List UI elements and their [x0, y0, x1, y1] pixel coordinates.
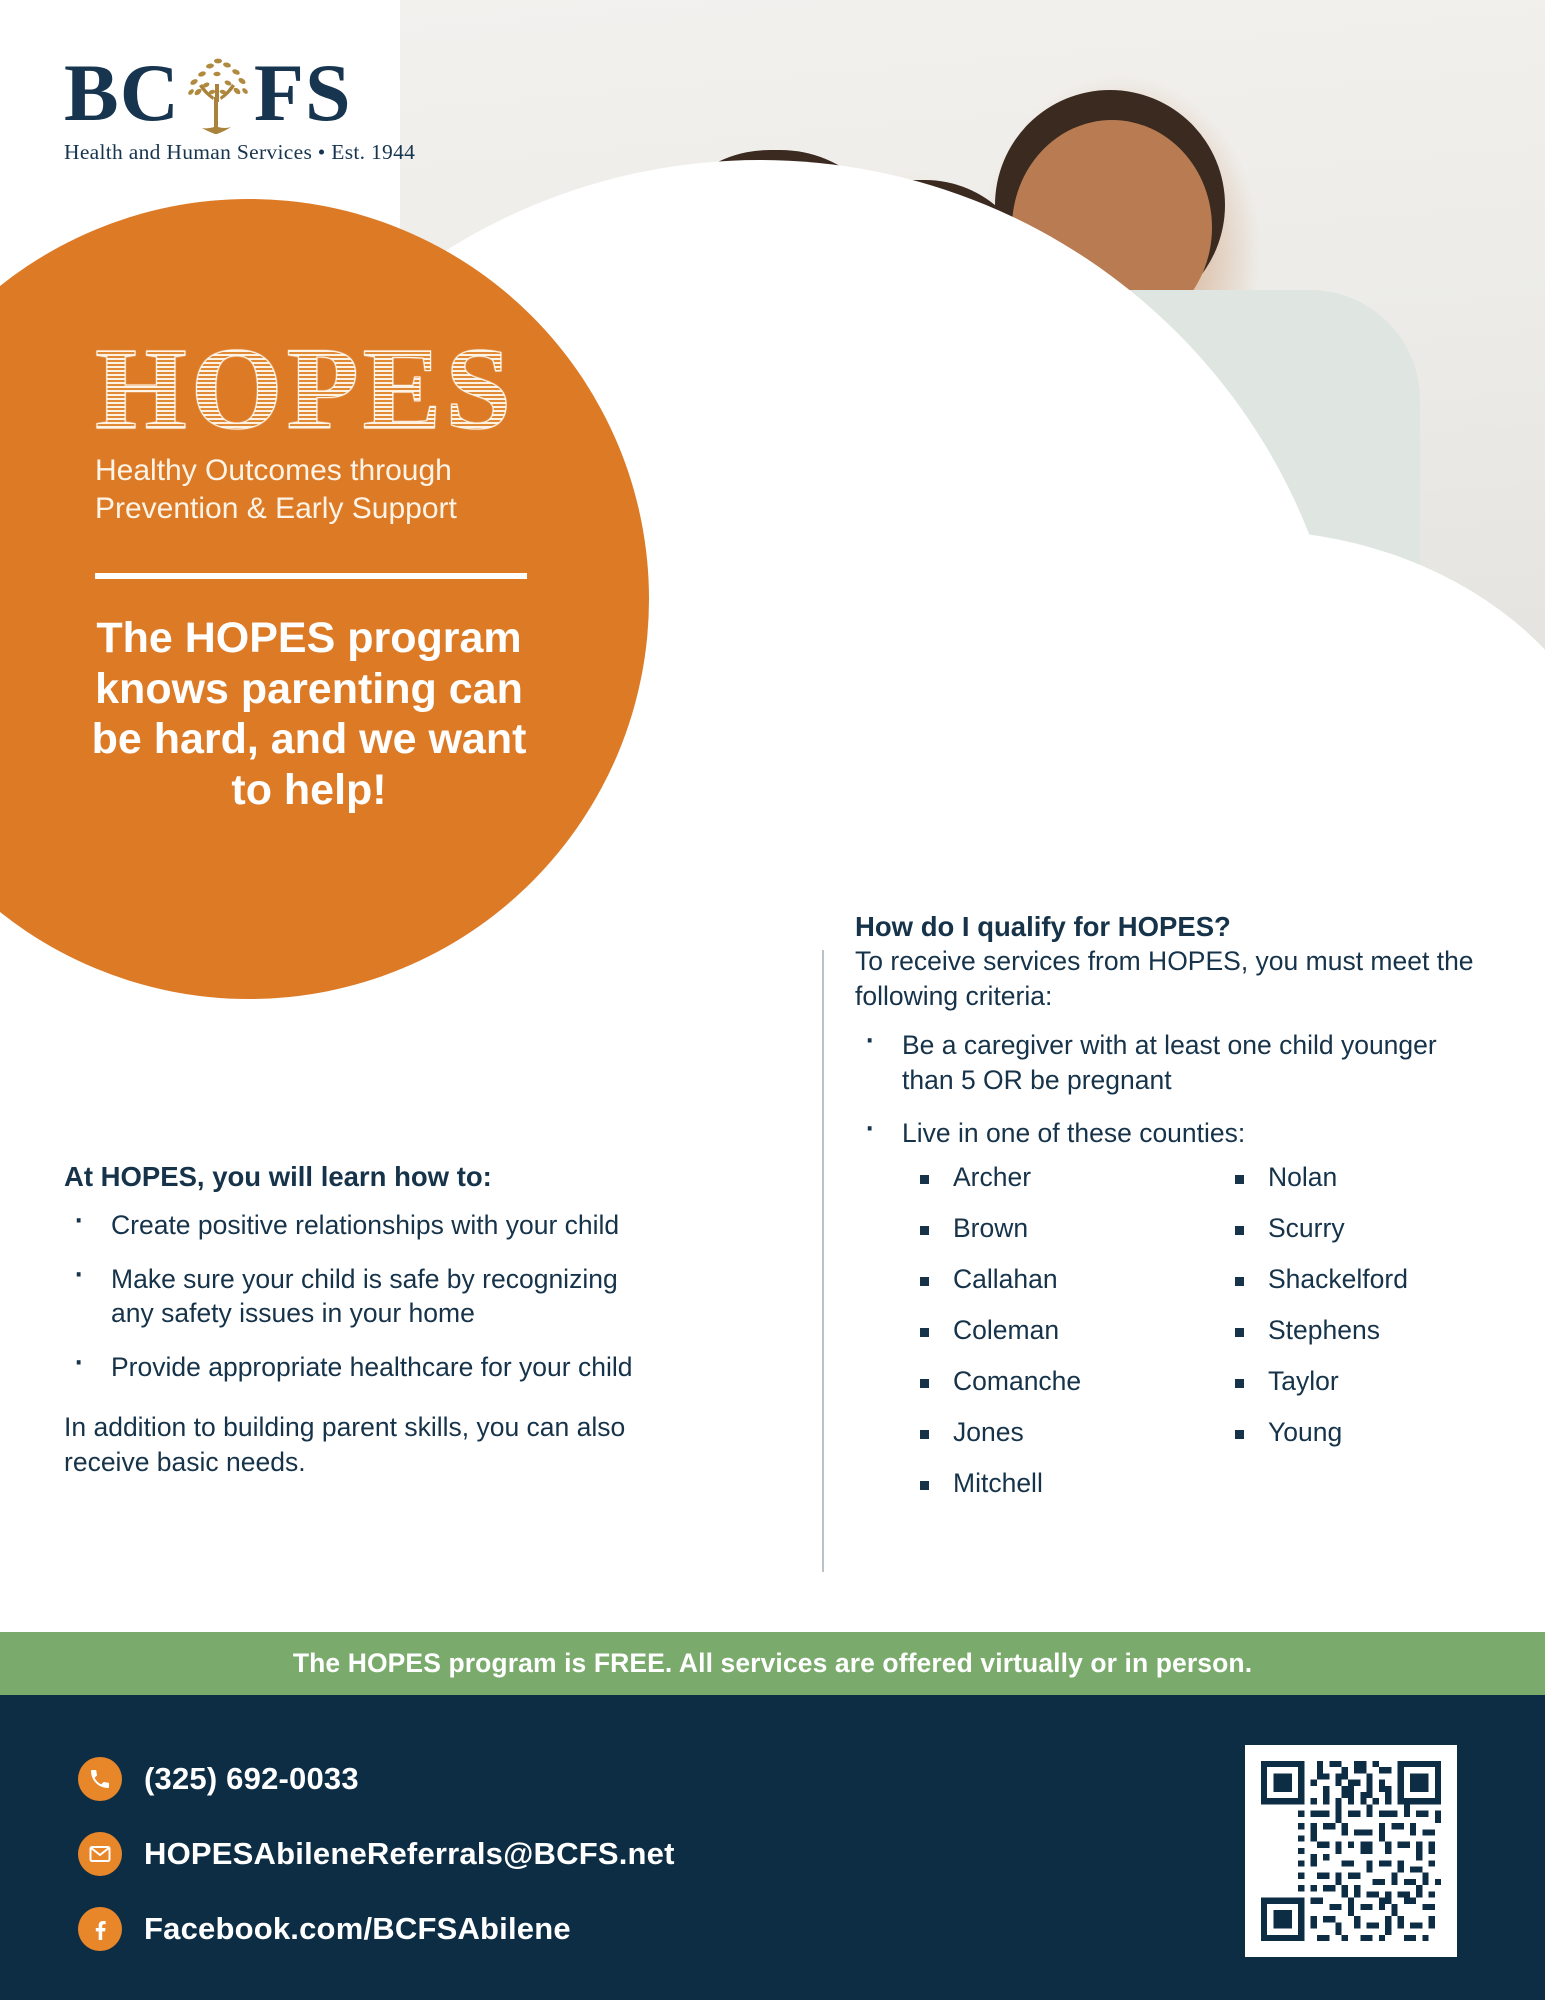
- contact-list: (325) 692-0033 HOPESAbileneReferrals@BCF…: [78, 1757, 675, 1982]
- divider-rule: [95, 573, 527, 579]
- list-item: Live in one of these counties:: [855, 1116, 1485, 1150]
- list-item: Jones: [910, 1416, 1165, 1449]
- list-item: Callahan: [910, 1263, 1165, 1296]
- counties-lists: Archer Brown Callahan Coleman Comanche J…: [910, 1161, 1485, 1519]
- email-address: HOPESAbileneReferrals@BCFS.net: [144, 1836, 675, 1872]
- list-item: Archer: [910, 1161, 1165, 1194]
- program-subtitle-line2: Prevention & Early Support: [95, 490, 565, 528]
- phone-icon: [78, 1757, 122, 1801]
- criteria-list: Be a caregiver with at least one child y…: [855, 1028, 1485, 1150]
- program-title: HOPES: [95, 330, 565, 448]
- footer: (325) 692-0033 HOPESAbileneReferrals@BCF…: [0, 1695, 1545, 2000]
- qr-code[interactable]: [1245, 1745, 1457, 1957]
- list-item: Young: [1225, 1416, 1480, 1449]
- phone-number: (325) 692-0033: [144, 1761, 359, 1797]
- list-item: Create positive relationships with your …: [64, 1208, 639, 1242]
- program-subtitle-line1: Healthy Outcomes through: [95, 452, 565, 490]
- contact-phone[interactable]: (325) 692-0033: [78, 1757, 675, 1801]
- list-item: Be a caregiver with at least one child y…: [855, 1028, 1485, 1097]
- list-item: Brown: [910, 1212, 1165, 1245]
- logo-text-left: BC: [64, 54, 180, 132]
- facebook-icon: [78, 1907, 122, 1951]
- list-item: Comanche: [910, 1365, 1165, 1398]
- list-item: Scurry: [1225, 1212, 1480, 1245]
- qualify-intro: To receive services from HOPES, you must…: [855, 944, 1485, 1014]
- learn-section: At HOPES, you will learn how to: Create …: [64, 1160, 639, 1480]
- hopes-hero-block: HOPES Healthy Outcomes through Preventio…: [95, 330, 565, 816]
- logo-tagline: Health and Human Services • Est. 1944: [64, 140, 404, 165]
- list-item: Shackelford: [1225, 1263, 1480, 1296]
- logo-text-right: FS: [254, 54, 352, 132]
- counties-column-2: Nolan Scurry Shackelford Stephens Taylor…: [1225, 1161, 1480, 1519]
- list-item: Mitchell: [910, 1467, 1165, 1500]
- bcfs-logo: BC: [64, 52, 404, 165]
- contact-email[interactable]: HOPESAbileneReferrals@BCFS.net: [78, 1832, 675, 1876]
- banner-text: The HOPES program is FREE. All services …: [293, 1648, 1252, 1679]
- contact-facebook[interactable]: Facebook.com/BCFSAbilene: [78, 1907, 675, 1951]
- counties-column-1: Archer Brown Callahan Coleman Comanche J…: [910, 1161, 1165, 1519]
- list-item: Make sure your child is safe by recogniz…: [64, 1262, 639, 1331]
- hero-headline: The HOPES program knows parenting can be…: [89, 613, 529, 816]
- list-item: Coleman: [910, 1314, 1165, 1347]
- list-item: Taylor: [1225, 1365, 1480, 1398]
- qualify-heading: How do I qualify for HOPES?: [855, 910, 1485, 944]
- learn-heading: At HOPES, you will learn how to:: [64, 1160, 639, 1194]
- qualify-section: How do I qualify for HOPES? To receive s…: [855, 910, 1485, 1519]
- envelope-icon: [78, 1832, 122, 1876]
- tree-icon: [182, 52, 252, 134]
- free-services-banner: The HOPES program is FREE. All services …: [0, 1632, 1545, 1695]
- basic-needs-note: In addition to building parent skills, y…: [64, 1410, 639, 1480]
- list-item: Provide appropriate healthcare for your …: [64, 1350, 639, 1384]
- flyer-page: BC: [0, 0, 1545, 2000]
- facebook-handle: Facebook.com/BCFSAbilene: [144, 1911, 571, 1947]
- list-item: Stephens: [1225, 1314, 1480, 1347]
- list-item: Nolan: [1225, 1161, 1480, 1194]
- column-divider: [822, 950, 824, 1572]
- learn-bullet-list: Create positive relationships with your …: [64, 1208, 639, 1384]
